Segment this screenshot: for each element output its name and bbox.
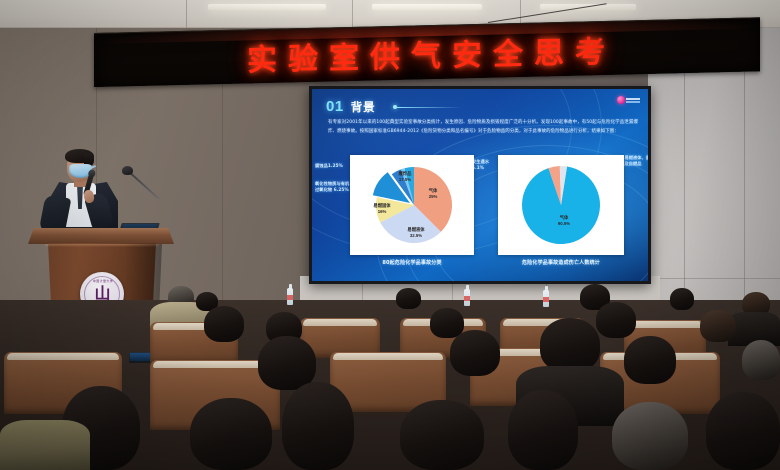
audience-head bbox=[396, 288, 421, 309]
slice-label-solid-name: 易燃固体 bbox=[373, 202, 391, 209]
audience-head bbox=[742, 340, 780, 380]
casualty-pie-svg: 气体 90.5% bbox=[498, 155, 624, 255]
water-bottle bbox=[287, 288, 293, 305]
ceiling-seam bbox=[186, 0, 187, 30]
audience-head bbox=[670, 288, 694, 310]
slice-label-solid-value: 16% bbox=[378, 209, 387, 214]
audience-head bbox=[612, 402, 688, 470]
brand-bars-icon bbox=[626, 98, 640, 103]
brand-logo-icon bbox=[617, 93, 643, 107]
annotation-oxidizer: 氧化性物质与有机过氧化物 6.25% bbox=[315, 181, 351, 193]
audience-head bbox=[700, 310, 736, 342]
slide-body-text: 有专家对2001年以来的100起典型实验室事故分类统计，发生原因、危险物质及损毁… bbox=[328, 119, 638, 136]
ceiling-light-1 bbox=[208, 4, 326, 10]
accident-type-pie-chart: 气体 25% 易燃液体 32.5% 易燃固体 16% 爆炸品 17.5% bbox=[350, 155, 474, 255]
presenter-hair bbox=[65, 149, 94, 163]
water-bottle bbox=[464, 289, 470, 306]
casualty-pie-caption: 危险化学品事故造成伤亡人数统计 bbox=[498, 259, 624, 266]
ceiling-light-2 bbox=[372, 4, 482, 10]
audience-head bbox=[540, 318, 600, 372]
desk-monitor bbox=[129, 352, 151, 363]
audience-head bbox=[706, 392, 780, 470]
slice-label-explosive-value: 17.5% bbox=[399, 177, 411, 182]
slice-label-liquid-name: 易燃液体 bbox=[407, 226, 425, 233]
annotation-spontaneous: 发生遇水 6.1% bbox=[472, 159, 500, 171]
audience-head bbox=[204, 306, 244, 342]
annotation-corrosive: 腐蚀品1.25% bbox=[315, 163, 349, 169]
podium-top bbox=[28, 228, 174, 244]
mic-stand-head-icon bbox=[122, 166, 133, 175]
presentation-slide: 01 背景 有专家对2001年以来的100起典型实验室事故分类统计，发生原因、危… bbox=[312, 89, 648, 281]
lecture-hall-photo: 实验室供气安全思考 01 背景 有专家对2001年以来的100起典型实验室事故分… bbox=[0, 0, 780, 470]
slide-heading: 01 背景 bbox=[326, 98, 376, 115]
audience-head bbox=[596, 302, 636, 338]
audience-head bbox=[258, 336, 316, 390]
accident-type-pie-caption: 80起危险化学品事故分类 bbox=[350, 259, 474, 266]
audience-head bbox=[508, 390, 578, 470]
wall-panel-seam bbox=[648, 278, 780, 279]
audience-head bbox=[450, 330, 500, 376]
slice-label-explosive-name: 爆炸品 bbox=[399, 170, 413, 177]
slice-label-gas-name: 气体 bbox=[428, 187, 438, 194]
emblem-name: 中国计量大学 bbox=[85, 279, 121, 283]
audience-head bbox=[282, 382, 354, 470]
slide-section-number: 01 bbox=[326, 98, 344, 115]
ceiling-seam bbox=[352, 0, 353, 30]
audience-shoulders bbox=[0, 420, 90, 470]
heading-rule bbox=[396, 107, 462, 108]
slice-label-gas-value: 25% bbox=[429, 194, 438, 199]
slice-label-gas-name: 气体 bbox=[559, 214, 569, 221]
audience-head bbox=[400, 400, 484, 470]
audience-head bbox=[624, 336, 676, 384]
microphone-stand bbox=[128, 170, 166, 230]
projection-screen: 01 背景 有专家对2001年以来的100起典型实验室事故分类统计，发生原因、危… bbox=[309, 86, 651, 284]
casualty-pie-chart: 气体 90.5% bbox=[498, 155, 624, 255]
slide-section-title: 背景 bbox=[351, 99, 376, 115]
brand-mark-icon bbox=[617, 96, 625, 104]
slice-label-gas-value: 90.5% bbox=[558, 221, 570, 226]
accident-type-pie-svg: 气体 25% 易燃液体 32.5% 易燃固体 16% 爆炸品 17.5% bbox=[350, 155, 474, 255]
audience-head bbox=[190, 398, 272, 470]
water-bottle bbox=[543, 290, 549, 307]
slice-label-liquid-value: 32.5% bbox=[410, 233, 422, 238]
mic-stand-rod bbox=[127, 170, 160, 200]
